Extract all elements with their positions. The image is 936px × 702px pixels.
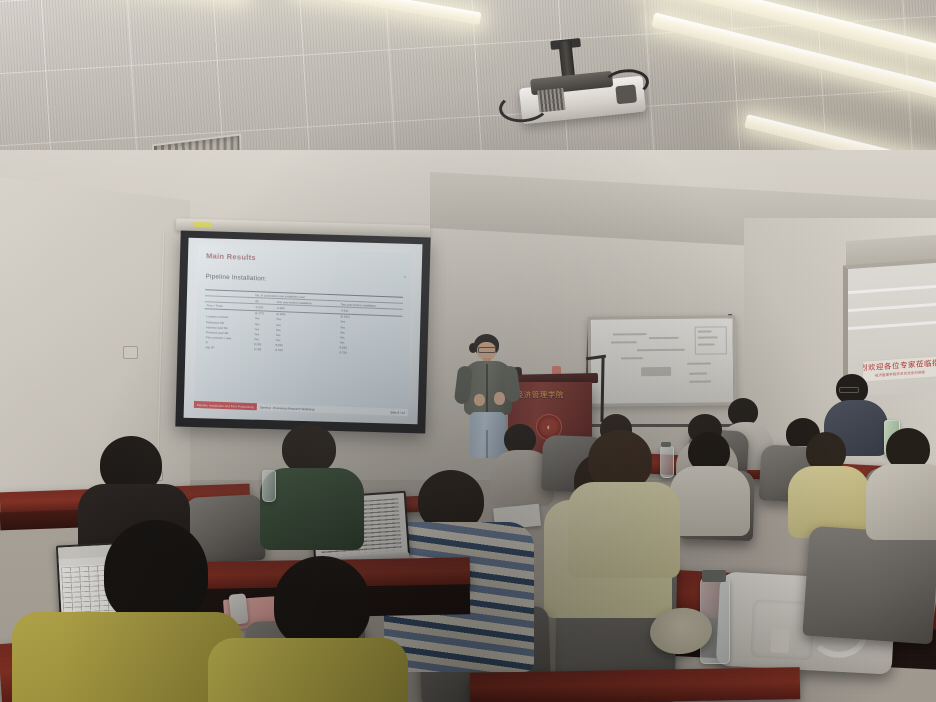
slide-title: Main Results (206, 251, 404, 268)
presenter-hand-left (474, 394, 485, 406)
person-head (104, 520, 208, 624)
projection-screen-surface: Main Results 8 Pipeline Installation: No… (184, 238, 423, 424)
person-torso (568, 482, 680, 578)
person-torso (866, 464, 936, 540)
person-head (588, 430, 652, 490)
whiteboard (588, 315, 737, 407)
slide-table-row-label: Adj. R² (203, 345, 251, 352)
person-torso (670, 466, 750, 536)
chair (802, 526, 936, 645)
slide-page-number: 8 (404, 275, 406, 279)
slide-table-cell: 0.729 (337, 350, 401, 358)
frost-band (848, 285, 936, 295)
jacket-zipper (486, 364, 488, 412)
person-head (274, 556, 370, 648)
glasses-icon (478, 347, 496, 353)
water-bottle (660, 446, 674, 478)
jeans-seam (486, 430, 488, 458)
frost-band (848, 303, 936, 313)
backpack-tag (770, 628, 789, 653)
housing-label-sticker (194, 222, 212, 228)
slide-footer-left: Seminar · Economics Research Workshop (260, 405, 314, 411)
frost-band (848, 321, 936, 331)
bottle-cap (661, 442, 671, 447)
presentation-slide: Main Results 8 Pipeline Installation: No… (194, 245, 412, 411)
desk-row (470, 667, 801, 702)
person-torso (208, 638, 408, 702)
power-outlet-icon (123, 346, 138, 359)
bottle-cap (702, 570, 726, 582)
slide-subtitle: Pipeline Installation: (205, 273, 403, 288)
water-bottle (262, 470, 276, 502)
classroom-photo: 热烈欢迎各位专家莅临指导 经济管理学院学术交流系列讲座 Main Results… (0, 0, 936, 702)
slide-table-cell: 0.728 (252, 347, 274, 353)
glasses-icon (839, 387, 859, 393)
slide-results-table: No. of connection pipe installation year… (203, 289, 403, 358)
slide-table-body: Post × Treat-0.624-0.694-0.611(0.177)(0.… (203, 302, 402, 358)
slide-footer-highlight: Pipeline Installation and Firm Productiv… (194, 401, 257, 410)
person-head (282, 424, 336, 474)
slide-table-cell: 0.729 (273, 348, 337, 356)
projection-screen: Main Results 8 Pipeline Installation: No… (175, 231, 430, 434)
presenter-hand-right (494, 392, 505, 405)
slide-footer-right: Slide 8 / 24 (390, 410, 405, 415)
